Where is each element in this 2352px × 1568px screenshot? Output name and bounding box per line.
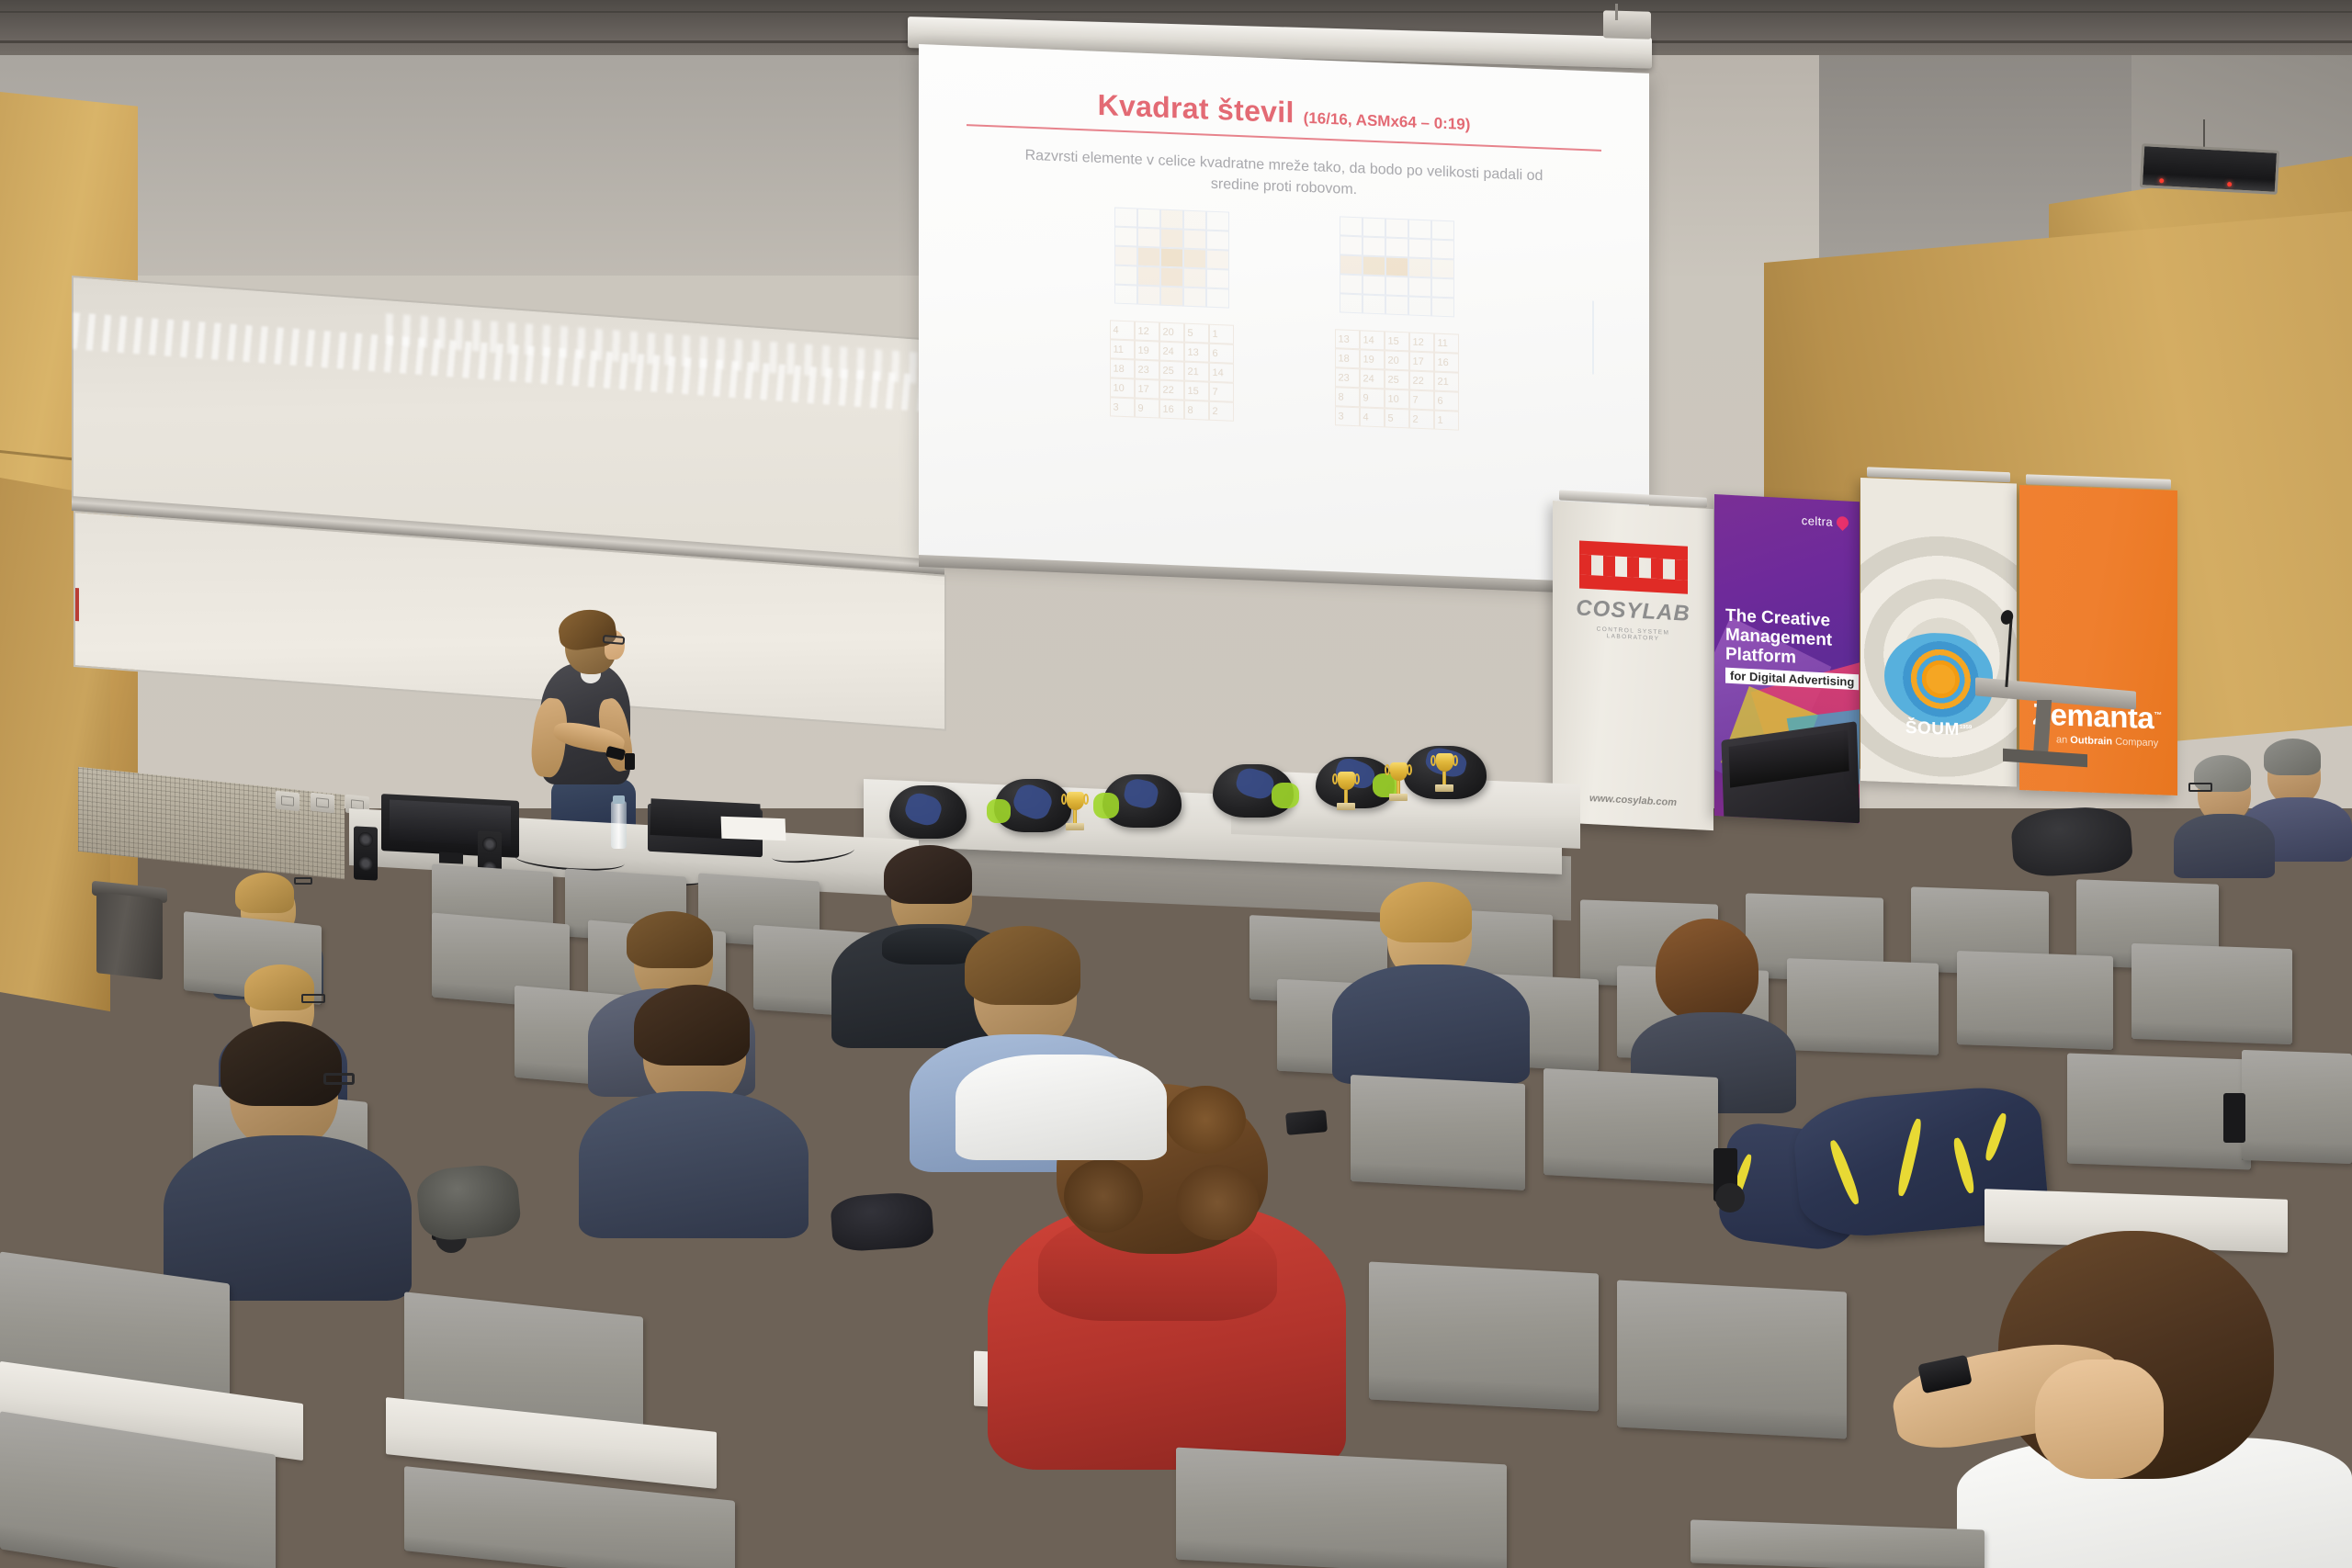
backpack-1 [889, 785, 967, 839]
water-bottle-cap [613, 795, 625, 804]
heat-cell [1363, 256, 1385, 276]
heat-cell [1385, 296, 1408, 316]
grid-cell: 17 [1409, 352, 1434, 372]
grid-cell: 2 [1409, 410, 1434, 430]
zemanta-sub-prefix: an [2056, 734, 2070, 746]
grid-cell: 7 [1209, 382, 1234, 402]
heat-cell [1183, 249, 1206, 269]
zemanta-sub-brand: Outbrain [2070, 735, 2112, 748]
slide-body-text: Razvrsti elemente v celice kvadratne mre… [1005, 144, 1563, 209]
heat-cell [1160, 209, 1183, 230]
heat-cell [1340, 294, 1363, 314]
grid-cell: 11 [1110, 340, 1135, 360]
seat-arm-hinge-3 [1715, 1183, 1745, 1213]
grid-cell: 9 [1135, 399, 1159, 419]
grid-cell: 24 [1360, 369, 1385, 389]
heat-cell [1137, 209, 1160, 229]
audience-hair-a2 [220, 1021, 342, 1106]
audience-hair-curl-2 [1165, 1086, 1246, 1154]
heat-cell [1363, 276, 1385, 296]
grid-cell: 2 [1209, 401, 1234, 422]
grid-cell: 1 [1434, 411, 1459, 431]
grid-cell: 3 [1110, 398, 1135, 418]
banner-celtra: celtra The Creative Management Platform … [1714, 494, 1860, 823]
heat-cell [1340, 236, 1363, 256]
audience-body-white-shirt [955, 1055, 1167, 1160]
grid-cell: 9 [1360, 389, 1385, 409]
backpack-3 [1102, 774, 1182, 828]
grid-cell: 23 [1335, 368, 1360, 389]
lecture-hall-photo: Kvadrat števil (16/16, ASMx64 – 0:19) Ra… [0, 0, 2352, 1568]
water-bottle [611, 801, 627, 849]
grid-cell: 12 [1409, 333, 1434, 353]
seat-r4-5 [1543, 1068, 1718, 1184]
slide-number-grids: 4122051111924136182325211410172215739168… [957, 314, 1611, 437]
heat-cell [1408, 258, 1431, 278]
number-grid-right: 1314151211181920171623242522218910763452… [1335, 330, 1459, 431]
celtra-headline: The Creative Management Platform [1725, 607, 1860, 671]
grid-cell: 21 [1434, 372, 1459, 392]
celtra-speech-bubble-icon [1834, 514, 1850, 531]
heat-cell [1160, 267, 1183, 288]
heat-cell [1431, 278, 1454, 299]
heat-cell [1340, 255, 1363, 276]
zemanta-subline: an Outbrain Company [2056, 734, 2158, 749]
audience-glasses-a2 [323, 1073, 355, 1085]
power-outlet-2[interactable] [311, 793, 334, 814]
heat-cell [1363, 295, 1385, 315]
grid-cell: 14 [1360, 331, 1385, 351]
grid-cell: 3 [1335, 407, 1360, 427]
heat-cell [1385, 238, 1408, 258]
audience-hair-a1 [244, 964, 314, 1010]
trophy-1 [1066, 792, 1084, 830]
backpack-2 [994, 779, 1071, 832]
projector-screen-hook [1615, 4, 1618, 20]
trash-bin [96, 892, 163, 980]
heat-cell [1385, 257, 1408, 277]
grid-cell: 20 [1159, 322, 1184, 343]
heat-cell [1206, 231, 1229, 251]
grid-cell: 21 [1184, 362, 1209, 382]
heat-cell [1160, 248, 1183, 268]
audience-hair-a4 [634, 985, 750, 1066]
grid-cell: 13 [1335, 330, 1360, 350]
zemanta-sub-suffix: Company [2112, 737, 2158, 750]
projector-screen-end-cap [1603, 10, 1651, 39]
celtra-brand-text: celtra [1802, 513, 1833, 529]
heat-cell [1206, 288, 1229, 309]
heat-cell [1160, 229, 1183, 249]
bag-on-seat-right [2010, 805, 2134, 879]
audience-glasses-a13 [294, 877, 312, 885]
heat-cell [1408, 239, 1431, 259]
heat-cell [1408, 220, 1431, 240]
grid-cell: 4 [1360, 408, 1385, 428]
heat-cell [1206, 269, 1229, 289]
audience-glasses-a11 [2188, 783, 2212, 792]
audience-hair-a5 [884, 845, 972, 904]
seat-r5-3 [1369, 1261, 1599, 1411]
ceiling-seam-2 [0, 11, 2352, 13]
seat-r3-8 [1957, 951, 2113, 1050]
grid-cell: 22 [1409, 371, 1434, 391]
audience-hair-a6 [965, 926, 1080, 1005]
cosylab-name: COSYLAB [1569, 595, 1697, 627]
seat-arm-bracket-4 [2223, 1093, 2245, 1143]
slide-heatmaps [957, 201, 1611, 324]
heatmap-right [1340, 217, 1454, 318]
grid-cell: 5 [1385, 409, 1409, 429]
grid-cell: 20 [1385, 351, 1409, 371]
heat-cell [1183, 268, 1206, 288]
heat-cell [1183, 288, 1206, 308]
seat-front-3 [1690, 1519, 1984, 1568]
grid-cell: 6 [1209, 344, 1234, 364]
paper-sheet [721, 817, 786, 840]
grid-cell: 16 [1434, 353, 1459, 373]
heat-cell [1431, 220, 1454, 241]
celtra-laptop-screen-graphic [1729, 730, 1849, 788]
audience-body-a2 [164, 1135, 412, 1301]
presentation-slide: Kvadrat števil (16/16, ASMx64 – 0:19) Ra… [919, 44, 1649, 588]
grid-cell: 24 [1159, 342, 1184, 362]
heat-cell [1363, 218, 1385, 238]
heat-cell [1137, 286, 1160, 306]
heat-cell [1114, 227, 1137, 247]
heat-cell [1363, 237, 1385, 257]
grid-cell: 16 [1159, 400, 1184, 420]
heat-cell [1137, 228, 1160, 248]
bag-lower-left [415, 1162, 522, 1242]
grid-cell: 18 [1335, 349, 1360, 369]
grid-cell: 5 [1184, 323, 1209, 344]
heat-cell [1114, 246, 1137, 266]
soum-name: ŠOUM1959 [1860, 716, 2017, 743]
heat-cell [1114, 285, 1137, 305]
zemanta-trademark: ™ [2154, 710, 2162, 719]
slide-title: Kvadrat števil [1098, 88, 1295, 130]
heatmap-left [1114, 208, 1229, 309]
heat-cell [1137, 266, 1160, 287]
grid-cell: 19 [1360, 350, 1385, 370]
seat-front-2 [1176, 1448, 1507, 1568]
projection-screen: Kvadrat števil (16/16, ASMx64 – 0:19) Ra… [919, 44, 1649, 588]
whiteboard-red-marker-mark [75, 588, 79, 621]
wall-speaker-icon [2140, 143, 2279, 195]
seat-r3-9 [2131, 943, 2292, 1044]
presenter-clicker [625, 753, 635, 770]
grid-cell: 14 [1209, 363, 1234, 383]
heat-cell [1340, 217, 1363, 237]
celtra-laptop-graphic [1721, 721, 1860, 823]
trophy-3 [1389, 762, 1408, 801]
heat-cell [1160, 287, 1183, 307]
heat-cell [1206, 211, 1229, 231]
heat-cell [1206, 250, 1229, 270]
heat-cell [1114, 265, 1137, 286]
seat-r4-4 [1351, 1075, 1525, 1190]
heat-cell [1431, 259, 1454, 279]
grid-cell: 10 [1110, 378, 1135, 399]
audience-hand-a10 [2035, 1359, 2164, 1479]
grid-cell: 12 [1135, 321, 1159, 342]
bag-lower-center [830, 1190, 934, 1253]
number-grid-left: 4122051111924136182325211410172215739168… [1110, 321, 1234, 422]
soum-name-text: ŠOUM [1905, 718, 1960, 739]
desktop-speaker-left [354, 826, 378, 880]
slide-subtitle: (16/16, ASMx64 – 0:19) [1304, 109, 1471, 134]
grid-cell: 15 [1184, 381, 1209, 401]
heat-cell [1137, 247, 1160, 267]
heat-cell [1114, 208, 1137, 228]
heat-cell [1408, 297, 1431, 317]
banner-cosylab: COSYLAB CONTROL SYSTEM LABORATORY www.co… [1553, 501, 1713, 830]
backpack-4 [1213, 764, 1294, 818]
grid-cell: 25 [1385, 370, 1409, 390]
trophy-4 [1435, 753, 1453, 792]
grid-cell: 13 [1184, 343, 1209, 363]
wall-upper-grey [0, 55, 955, 276]
soum-year: 1959 [1960, 725, 1972, 731]
audience-hair-a7 [1380, 882, 1472, 942]
audience-hair-a12 [2264, 739, 2321, 775]
grid-cell: 22 [1159, 380, 1184, 400]
audience-body-a7 [1332, 964, 1530, 1084]
grid-cell: 1 [1209, 324, 1234, 344]
grid-cell: 25 [1159, 361, 1184, 381]
audience-hood-a5 [882, 928, 978, 964]
grid-cell: 4 [1110, 321, 1135, 341]
audience-hair-a3 [627, 911, 713, 968]
trophy-2 [1337, 772, 1355, 810]
grid-cell: 6 [1434, 391, 1459, 412]
audience-hair-a13 [235, 873, 294, 913]
grid-cell: 23 [1135, 360, 1159, 380]
heat-cell [1431, 240, 1454, 260]
grid-cell: 11 [1434, 333, 1459, 354]
grid-cell: 18 [1110, 359, 1135, 379]
cosylab-logo-icon [1579, 540, 1688, 593]
grid-cell: 17 [1135, 379, 1159, 400]
grid-cell: 15 [1385, 332, 1409, 352]
audience-hair-curl-3 [1064, 1159, 1143, 1233]
power-outlet-1[interactable] [276, 791, 300, 812]
heat-cell [1431, 298, 1454, 318]
heat-cell [1183, 230, 1206, 250]
audience-glasses-a1 [301, 994, 325, 1003]
grid-cell: 8 [1184, 400, 1209, 421]
grid-cell: 8 [1335, 388, 1360, 408]
grid-cell: 7 [1409, 390, 1434, 411]
slide-arrow-indicator [1592, 300, 1594, 374]
heat-cell [1340, 275, 1363, 295]
seat-r4-8 [2242, 1050, 2352, 1164]
heat-cell [1385, 276, 1408, 297]
seat-r5-4 [1617, 1280, 1847, 1438]
heat-cell [1183, 210, 1206, 231]
banner-soum: ŠOUM1959 [1860, 478, 2017, 787]
grid-cell: 19 [1135, 341, 1159, 361]
grid-cell: 10 [1385, 389, 1409, 410]
cosylab-tagline: CONTROL SYSTEM LABORATORY [1569, 625, 1697, 644]
audience-body-a11 [2174, 814, 2275, 878]
celtra-brand: celtra [1802, 513, 1849, 530]
audience-hair-curl-4 [1176, 1165, 1259, 1240]
audience-body-a4 [579, 1091, 808, 1238]
audience-hair-a9 [1656, 919, 1758, 1021]
monitor-stand [439, 852, 463, 863]
heat-cell [1408, 277, 1431, 298]
smartphone-on-desk[interactable] [1285, 1110, 1328, 1135]
heat-cell [1385, 219, 1408, 239]
seat-r3-7 [1787, 958, 1939, 1055]
